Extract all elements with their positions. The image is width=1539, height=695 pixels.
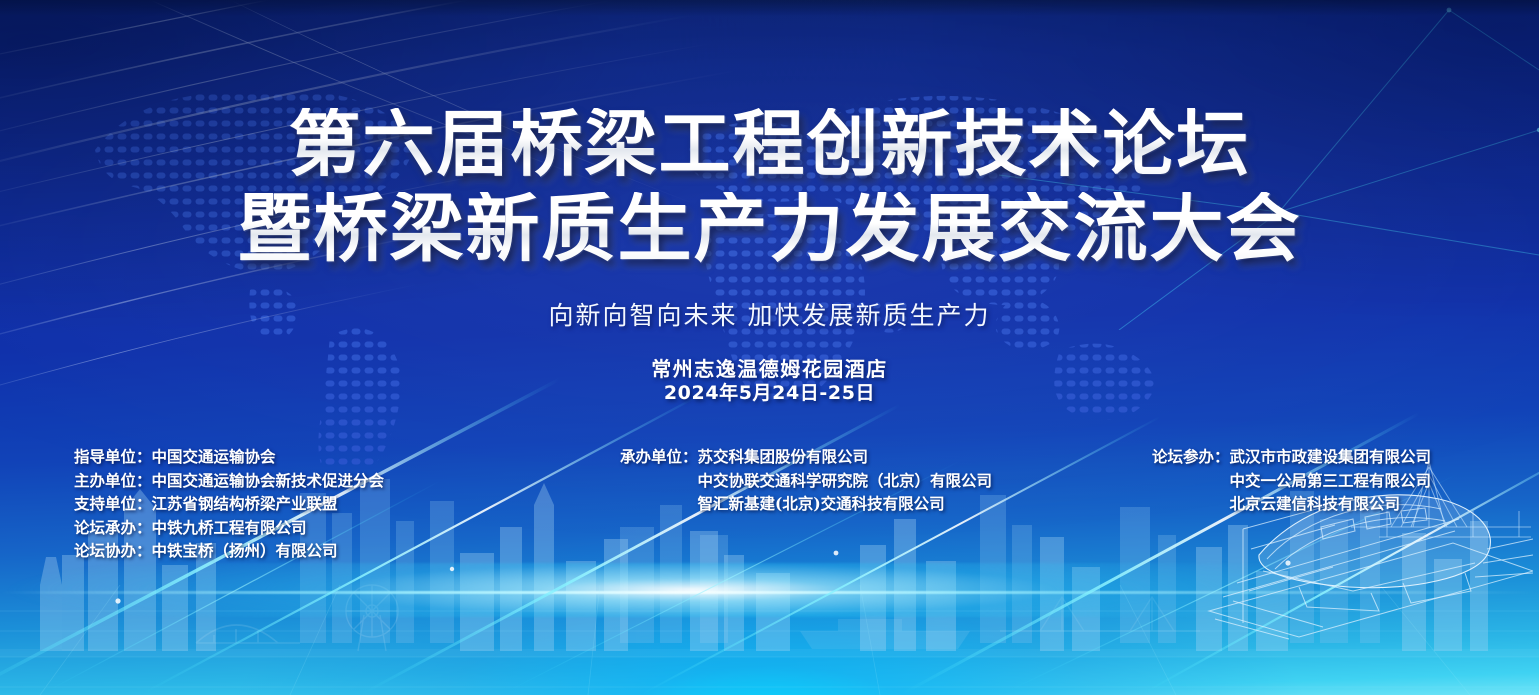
credit-value: 中铁宝桥（扬州）有限公司 [152,539,338,563]
credit-row: 承办单位：中交协联交通科学研究院（北京）有限公司 [620,469,992,493]
credit-label: 指导单位： [74,445,152,469]
title-line-1: 第六届桥梁工程创新技术论坛 [0,108,1539,180]
credit-label: 承办单位： [620,445,698,469]
credit-row: 指导单位：中国交通运输协会 [74,445,384,469]
credit-row: 支持单位：江苏省钢结构桥梁产业联盟 [74,492,384,516]
banner-content: 第六届桥梁工程创新技术论坛 暨桥梁新质生产力发展交流大会 向新向智向未来 加快发… [0,0,1539,695]
credit-label: 论坛承办： [74,516,152,540]
credit-row: 论坛承办：中铁九桥工程有限公司 [74,516,384,540]
credit-value: 中铁九桥工程有限公司 [152,516,307,540]
slogan: 向新向智向未来 加快发展新质生产力 [0,296,1539,332]
credit-label: 论坛协办： [74,539,152,563]
credit-value: 中国交通运输协会新技术促进分会 [152,469,385,493]
credit-value: 中交一公局第三工程有限公司 [1230,469,1432,493]
credits-column-center: 承办单位：苏交科集团股份有限公司承办单位：中交协联交通科学研究院（北京）有限公司… [620,445,992,516]
credits-column-right: 论坛参办：武汉市市政建设集团有限公司论坛参办：中交一公局第三工程有限公司论坛参办… [1152,445,1431,516]
credit-row: 论坛参办：北京云建信科技有限公司 [1152,492,1431,516]
credit-label: 支持单位： [74,492,152,516]
credit-row: 论坛参办：武汉市市政建设集团有限公司 [1152,445,1431,469]
credits-block: 指导单位：中国交通运输协会主办单位：中国交通运输协会新技术促进分会支持单位：江苏… [0,445,1539,565]
conference-banner: 第六届桥梁工程创新技术论坛 暨桥梁新质生产力发展交流大会 向新向智向未来 加快发… [0,0,1539,695]
title-line-2: 暨桥梁新质生产力发展交流大会 [0,192,1539,266]
credit-label: 主办单位： [74,469,152,493]
credit-value: 武汉市市政建设集团有限公司 [1230,445,1432,469]
credit-row: 主办单位：中国交通运输协会新技术促进分会 [74,469,384,493]
credit-value: 北京云建信科技有限公司 [1230,492,1401,516]
credit-value: 智汇新基建(北京)交通科技有限公司 [698,492,945,516]
main-title: 第六届桥梁工程创新技术论坛 暨桥梁新质生产力发展交流大会 [0,108,1539,266]
credit-value: 中交协联交通科学研究院（北京）有限公司 [698,469,993,493]
credit-value: 江苏省钢结构桥梁产业联盟 [152,492,338,516]
credit-row: 承办单位：苏交科集团股份有限公司 [620,445,992,469]
credit-label: 论坛参办： [1152,445,1230,469]
credits-column-left: 指导单位：中国交通运输协会主办单位：中国交通运输协会新技术促进分会支持单位：江苏… [74,445,384,563]
credit-row: 论坛参办：中交一公局第三工程有限公司 [1152,469,1431,493]
credit-value: 中国交通运输协会 [152,445,276,469]
event-dates: 2024年5月24日-25日 [0,378,1539,405]
credit-value: 苏交科集团股份有限公司 [698,445,869,469]
credit-row: 论坛协办：中铁宝桥（扬州）有限公司 [74,539,384,563]
credit-row: 承办单位：智汇新基建(北京)交通科技有限公司 [620,492,992,516]
